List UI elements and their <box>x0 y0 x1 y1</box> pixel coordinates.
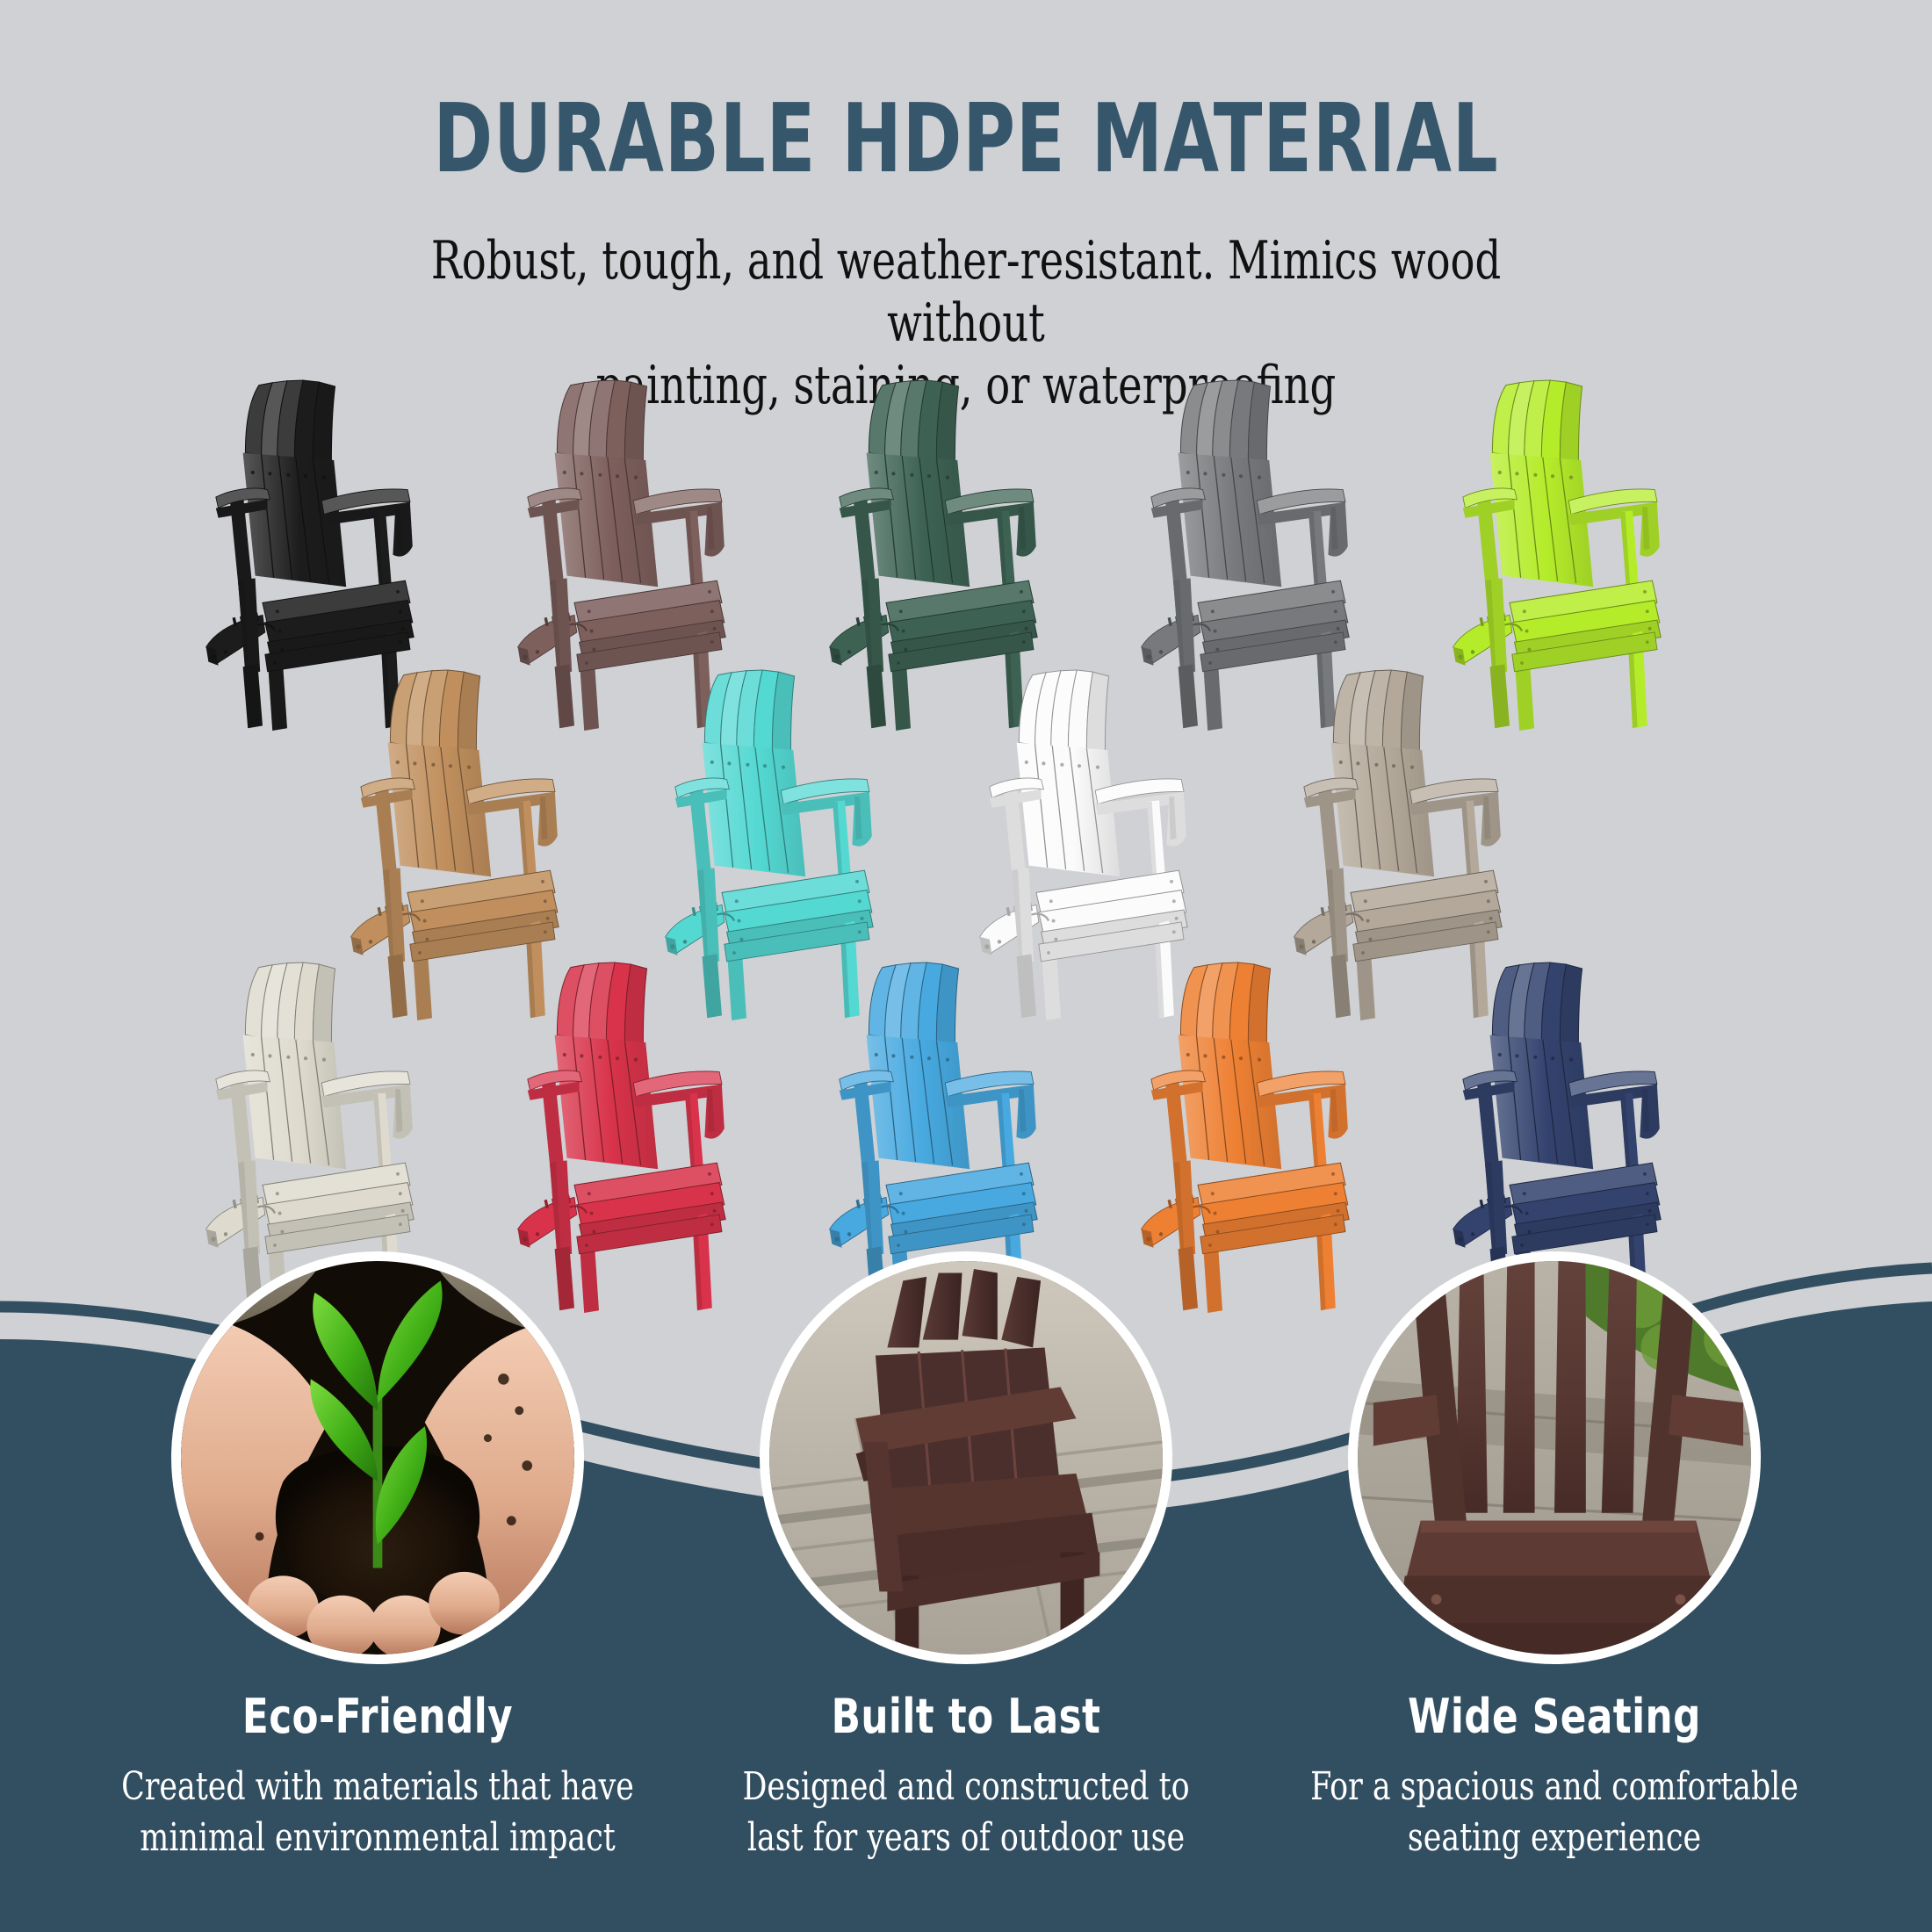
feature-image-3 <box>1348 1251 1761 1664</box>
infographic-canvas: DURABLE HDPE MATERIAL Robust, tough, and… <box>0 0 1932 1932</box>
chair-swatch-orange[interactable] <box>1115 944 1379 1313</box>
feature-description: For a spacious and comfortable seating e… <box>1284 1762 1825 1862</box>
feature-description: Created with materials that have minimal… <box>107 1762 648 1862</box>
chair-seat-closeup-photo <box>1358 1261 1751 1654</box>
feature-image-2 <box>760 1251 1172 1664</box>
feature-description: Designed and constructed to last for yea… <box>696 1762 1236 1862</box>
brown-chair-on-patio-photo <box>769 1261 1163 1654</box>
feature-heading: Eco-Friendly <box>101 1690 654 1742</box>
feature-block-2: Built to Last Designed and constructed t… <box>659 1690 1273 1863</box>
seedling-in-hands-photo <box>181 1261 574 1654</box>
subtitle-line-1: Robust, tough, and weather-resistant. Mi… <box>347 230 1585 355</box>
feature-block-3: Wide Seating For a spacious and comforta… <box>1247 1690 1862 1863</box>
feature-desc-line-1: For a spacious and comfortable <box>1310 1764 1799 1809</box>
feature-heading: Built to Last <box>689 1690 1243 1742</box>
feature-desc-line-1: Created with materials that have <box>121 1764 634 1809</box>
feature-desc-line-2: seating experience <box>1408 1815 1701 1860</box>
adirondack-chair-icon <box>492 944 755 1313</box>
feature-image-1 <box>171 1251 584 1664</box>
adirondack-chair-icon <box>1115 944 1379 1313</box>
feature-block-1: Eco-Friendly Created with materials that… <box>70 1690 685 1863</box>
feature-heading: Wide Seating <box>1278 1690 1831 1742</box>
page-title: DURABLE HDPE MATERIAL <box>155 92 1777 187</box>
feature-desc-line-2: minimal environmental impact <box>140 1815 615 1860</box>
feature-desc-line-1: Designed and constructed to <box>742 1764 1189 1809</box>
chair-swatch-crimson[interactable] <box>492 944 755 1313</box>
feature-desc-line-2: last for years of outdoor use <box>747 1815 1185 1860</box>
